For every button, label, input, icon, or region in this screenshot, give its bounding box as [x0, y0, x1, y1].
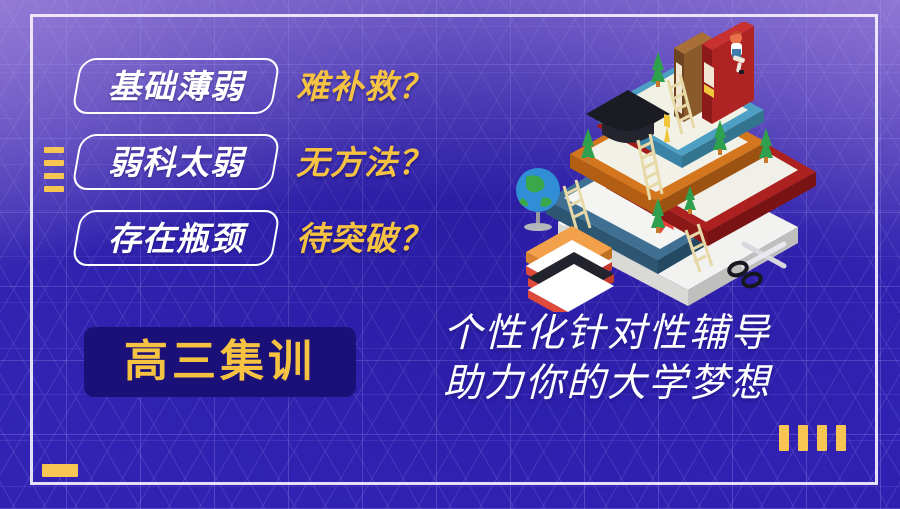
problem-question: 待突破？: [296, 222, 432, 255]
dash-mark: [44, 186, 64, 192]
slogan-block: 个性化针对性辅导 助力你的大学梦想: [443, 312, 843, 405]
book-stack-illustration: [498, 22, 828, 312]
dash-mark: [44, 160, 64, 166]
pine-tree-icon: [759, 128, 773, 163]
chip-label: 弱科太弱: [108, 146, 244, 179]
slogan-line-2: 助力你的大学梦想: [443, 362, 843, 406]
pine-tree-icon: [581, 128, 595, 163]
problem-list: 基础薄弱 难补救？ 弱科太弱 无方法？ 存在瓶颈 待突破？: [76, 58, 432, 266]
problem-row: 基础薄弱 难补救？: [76, 58, 432, 114]
problem-chip: 弱科太弱: [76, 134, 276, 190]
problem-row: 弱科太弱 无方法？: [76, 134, 432, 190]
course-title-badge: 高三集训: [84, 327, 356, 397]
bottom-right-bars: [779, 425, 846, 451]
problem-question: 无方法？: [296, 146, 432, 179]
bottom-left-mark: [42, 464, 78, 477]
poster-canvas: 基础薄弱 难补救？ 弱科太弱 无方法？ 存在瓶颈 待突破？ 高三集训 个性化针对…: [0, 0, 900, 509]
course-title-text: 高三集训: [124, 340, 316, 384]
problem-chip: 基础薄弱: [76, 58, 276, 114]
pine-tree-icon: [651, 52, 665, 87]
bar-mark: [836, 425, 846, 451]
slogan-line-1: 个性化针对性辅导: [443, 312, 843, 356]
chip-label: 基础薄弱: [108, 70, 244, 103]
dash-mark: [44, 173, 64, 179]
bar-mark: [798, 425, 808, 451]
left-dash-decoration: [44, 147, 64, 192]
bar-mark: [779, 425, 789, 451]
bar-mark: [817, 425, 827, 451]
globe-icon: [516, 168, 560, 231]
chip-label: 存在瓶颈: [108, 222, 244, 255]
problem-row: 存在瓶颈 待突破？: [76, 210, 432, 266]
problem-chip: 存在瓶颈: [76, 210, 276, 266]
dash-mark: [44, 147, 64, 153]
problem-question: 难补救？: [296, 70, 432, 103]
